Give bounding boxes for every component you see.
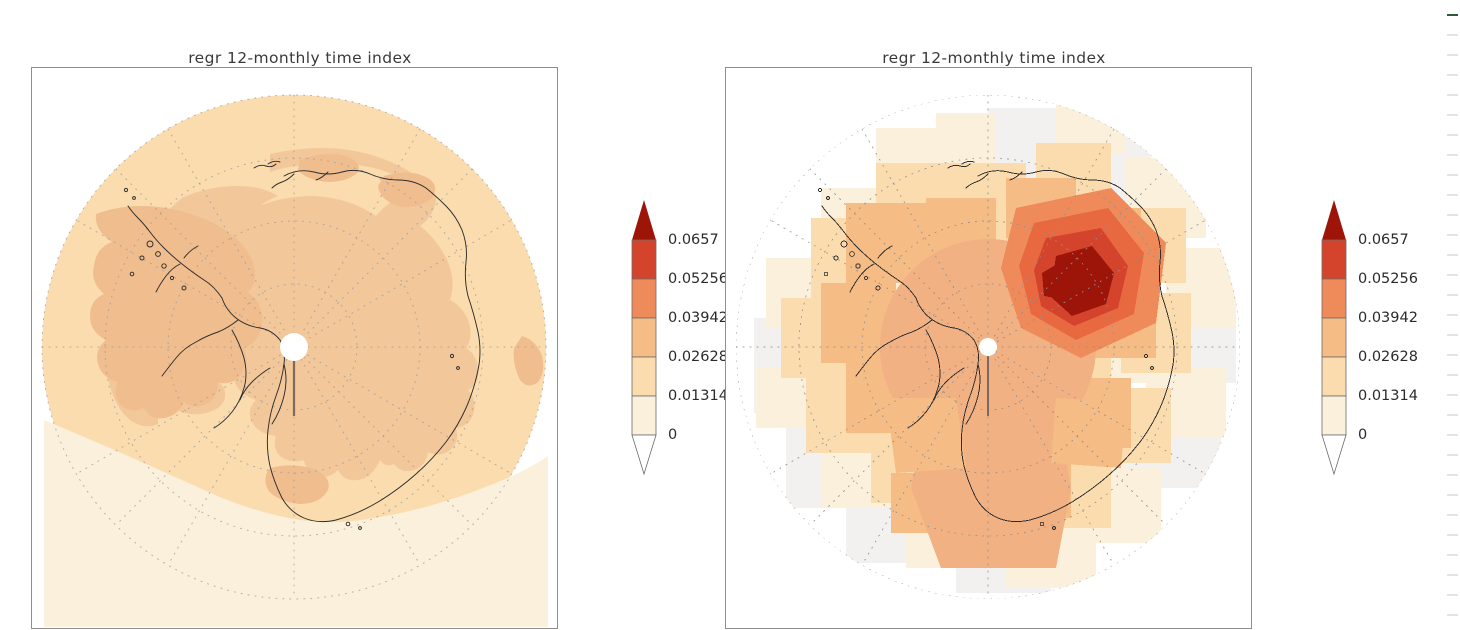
colorbar-band-5 bbox=[1322, 240, 1346, 279]
panel-right-frame bbox=[725, 67, 1252, 629]
panel-left: regr 12-monthly time index with modmean4… bbox=[0, 0, 640, 630]
colorbar-right-tick-1: 0.05256 bbox=[1358, 271, 1418, 287]
colorbar-right-tick-0: 0.0657 bbox=[1358, 232, 1409, 248]
gridded-cells bbox=[736, 95, 1240, 599]
colorbar-left-tick-5: 0 bbox=[668, 427, 677, 443]
colorbar-band-1 bbox=[1322, 396, 1346, 435]
colorbar-right-tick-3: 0.02628 bbox=[1358, 349, 1418, 365]
colorbar-right-tick-4: 0.01314 bbox=[1358, 388, 1418, 404]
colorbar-band-3 bbox=[1322, 318, 1346, 357]
colorbar-over-arrow bbox=[1322, 200, 1346, 240]
colorbar-right: 0.0657 0.05256 0.03942 0.02628 0.01314 0 bbox=[1314, 196, 1426, 476]
panel-left-frame bbox=[31, 67, 558, 629]
edge-crop-artifacts bbox=[1446, 0, 1460, 630]
colorbar-band-3 bbox=[632, 318, 656, 357]
panel-right-map bbox=[726, 68, 1250, 627]
colorbar-band-4 bbox=[1322, 279, 1346, 318]
colorbar-band-1 bbox=[632, 396, 656, 435]
colorbar-under-arrow bbox=[632, 435, 656, 474]
colorbar-band-2 bbox=[1322, 357, 1346, 396]
colorbar-right-tick-5: 0 bbox=[1358, 427, 1367, 443]
colorbar-under-arrow bbox=[1322, 435, 1346, 474]
colorbar-band-4 bbox=[632, 279, 656, 318]
panel-right-title-line1: regr 12-monthly time index bbox=[694, 48, 1294, 68]
colorbar-left-bar bbox=[628, 196, 664, 476]
colorbar-right-tick-2: 0.03942 bbox=[1358, 310, 1418, 326]
colorbar-right-bar bbox=[1318, 196, 1354, 476]
panel-left-title-line1: regr 12-monthly time index bbox=[0, 48, 600, 68]
panel-right: regr 12-monthly time index with GISS 120… bbox=[694, 0, 1334, 630]
colorbar-band-2 bbox=[632, 357, 656, 396]
colorbar-over-arrow bbox=[632, 200, 656, 240]
panel-left-map bbox=[32, 68, 556, 627]
colorbar-band-5 bbox=[632, 240, 656, 279]
